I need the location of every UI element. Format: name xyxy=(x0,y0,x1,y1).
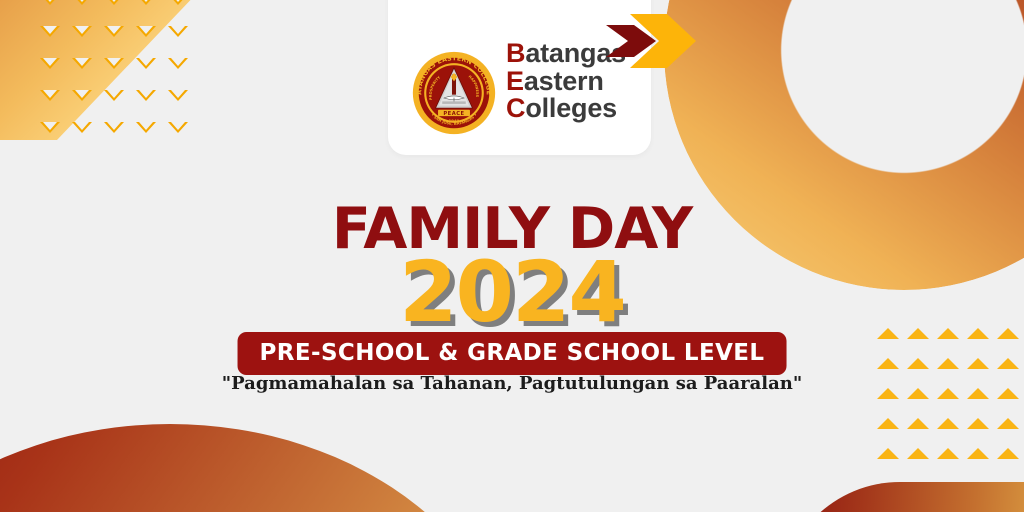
triangle-up-icon xyxy=(877,358,899,369)
triangle-up-icon xyxy=(907,418,929,429)
triangle-down-icon xyxy=(168,26,188,37)
triangle-down-icon xyxy=(40,58,60,69)
brand-initial-c: C xyxy=(506,93,525,123)
triangle-up-solid-grid xyxy=(877,328,1024,478)
triangle-up-icon xyxy=(997,418,1019,429)
triangle-down-icon xyxy=(136,0,156,5)
double-chevron-right-icon xyxy=(606,14,696,68)
triangle-down-icon xyxy=(168,0,188,5)
triangle-up-icon xyxy=(997,448,1019,459)
poster-canvas: PEACE 1949 BATANGAS EASTERN COLLEGES • S… xyxy=(0,0,1024,512)
triangle-down-icon xyxy=(104,90,124,101)
triangle-up-icon xyxy=(937,418,959,429)
gradient-slab-bottom-right xyxy=(780,482,1024,512)
triangle-down-icon xyxy=(136,122,156,133)
triangle-down-icon xyxy=(72,122,92,133)
triangle-up-icon xyxy=(907,448,929,459)
brand-initial-e: E xyxy=(506,66,524,96)
year-title: 2024 xyxy=(0,243,1024,341)
triangle-down-icon xyxy=(104,122,124,133)
triangle-down-icon xyxy=(40,122,60,133)
brand-word-colleges: olleges xyxy=(525,93,617,123)
triangle-up-icon xyxy=(967,358,989,369)
triangle-down-icon xyxy=(40,90,60,101)
triangle-down-icon xyxy=(168,122,188,133)
triangle-down-icon xyxy=(72,26,92,37)
triangle-down-icon xyxy=(104,26,124,37)
triangle-up-icon xyxy=(877,448,899,459)
triangle-up-icon xyxy=(967,418,989,429)
triangle-down-outline-grid xyxy=(40,0,200,154)
triangle-down-icon xyxy=(104,58,124,69)
triangle-up-icon xyxy=(937,448,959,459)
triangle-up-icon xyxy=(907,358,929,369)
triangle-down-icon xyxy=(72,58,92,69)
school-seal-icon: PEACE 1949 BATANGAS EASTERN COLLEGES • S… xyxy=(412,51,496,135)
level-banner: PRE-SCHOOL & GRADE SCHOOL LEVEL xyxy=(238,332,787,375)
triangle-up-icon xyxy=(877,418,899,429)
svg-text:PEACE: PEACE xyxy=(443,111,464,117)
triangle-down-icon xyxy=(40,0,60,5)
triangle-down-icon xyxy=(168,58,188,69)
triangle-down-icon xyxy=(168,90,188,101)
level-banner-label: PRE-SCHOOL & GRADE SCHOOL LEVEL xyxy=(260,340,765,366)
triangle-up-icon xyxy=(967,448,989,459)
brand-line-2: Eastern xyxy=(506,68,626,96)
triangle-down-icon xyxy=(72,0,92,5)
brand-line-3: Colleges xyxy=(506,95,626,123)
triangle-down-icon xyxy=(136,90,156,101)
triangle-up-icon xyxy=(997,358,1019,369)
brand-word-eastern: astern xyxy=(524,66,604,96)
triangle-down-icon xyxy=(104,0,124,5)
brand-initial-b: B xyxy=(506,38,525,68)
tagline: "Pagmamahalan sa Tahanan, Pagtutulungan … xyxy=(0,373,1024,394)
gradient-ellipse-bottom-left xyxy=(0,424,520,512)
triangle-down-icon xyxy=(40,26,60,37)
triangle-down-icon xyxy=(72,90,92,101)
triangle-up-icon xyxy=(937,358,959,369)
triangle-down-icon xyxy=(136,58,156,69)
triangle-down-icon xyxy=(136,26,156,37)
